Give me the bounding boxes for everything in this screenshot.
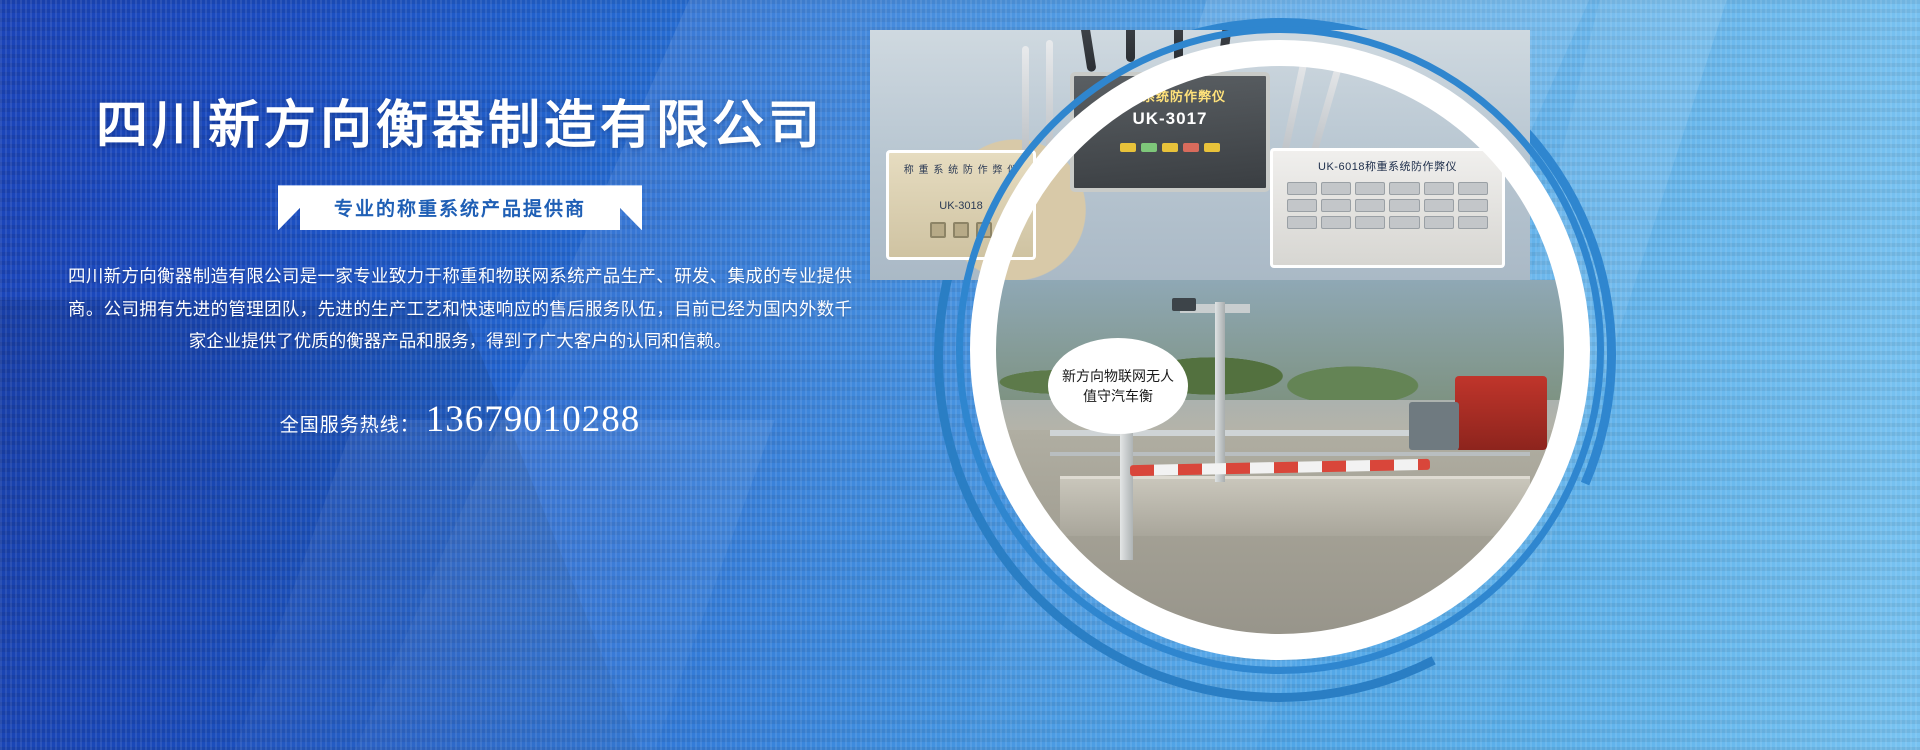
- banner-media-composition: 新方向物联网无人值守汽车衡 称重系统防作弊仪 UK-3017: [870, 0, 1920, 750]
- background-facet: [165, 420, 774, 750]
- photo-caption-label: 新方向物联网无人值守汽车衡: [1048, 338, 1188, 434]
- button-icon: [930, 222, 946, 238]
- banner-text-column: 四川新方向衡器制造有限公司 专业的称重系统产品提供商 四川新方向衡器制造有限公司…: [60, 95, 860, 441]
- antenna-icon: [1126, 30, 1135, 62]
- hotline-number[interactable]: 13679010288: [426, 398, 641, 441]
- hotline-block: 全国服务热线： 13679010288: [60, 398, 860, 441]
- button-icon: [953, 222, 969, 238]
- company-title: 四川新方向衡器制造有限公司: [60, 95, 860, 157]
- promotional-banner: 四川新方向衡器制造有限公司 专业的称重系统产品提供商 四川新方向衡器制造有限公司…: [0, 0, 1920, 750]
- company-intro-paragraph: 四川新方向衡器制造有限公司是一家专业致力于称重和物联网系统产品生产、研发、集成的…: [60, 260, 860, 357]
- hotline-label: 全国服务热线：: [280, 410, 420, 437]
- tagline-ribbon-wrapper: 专业的称重系统产品提供商: [60, 185, 860, 230]
- ring-outer-circle: [970, 40, 1590, 660]
- tagline-ribbon: 专业的称重系统产品提供商: [278, 185, 642, 230]
